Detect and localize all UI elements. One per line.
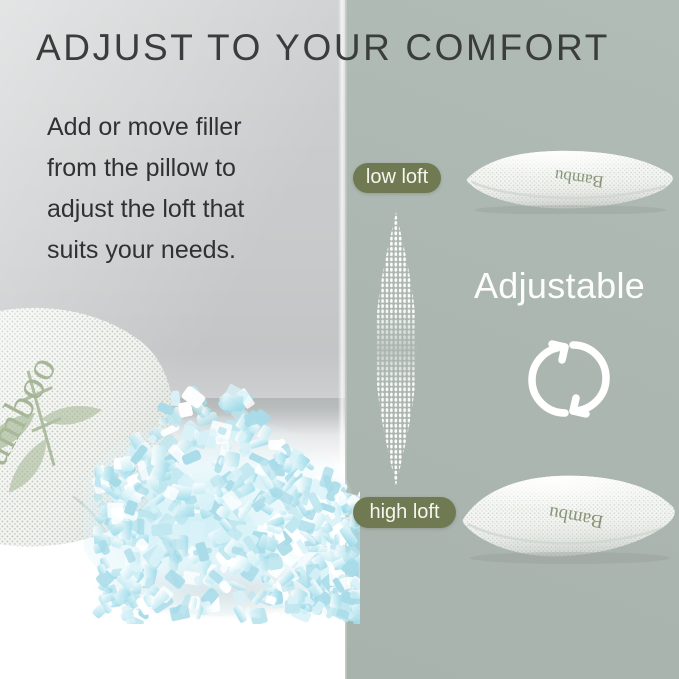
adjustable-label: Adjustable xyxy=(474,265,674,307)
low-loft-pillow: Bambu xyxy=(466,142,678,214)
badge-low-loft: low loft xyxy=(353,163,441,193)
product-infographic: Bamboo xyxy=(0,0,679,679)
page-title: ADJUST TO YOUR COMFORT xyxy=(36,26,656,70)
body-copy: Add or move filler from the pillow to ad… xyxy=(47,107,309,271)
badge-high-loft: high loft xyxy=(353,497,456,528)
shredded-foam-pile xyxy=(84,366,360,624)
high-loft-pillow: Bambu xyxy=(462,470,678,566)
double-headed-arrow-icon xyxy=(372,210,420,488)
circular-sync-arrows-icon xyxy=(524,334,614,424)
